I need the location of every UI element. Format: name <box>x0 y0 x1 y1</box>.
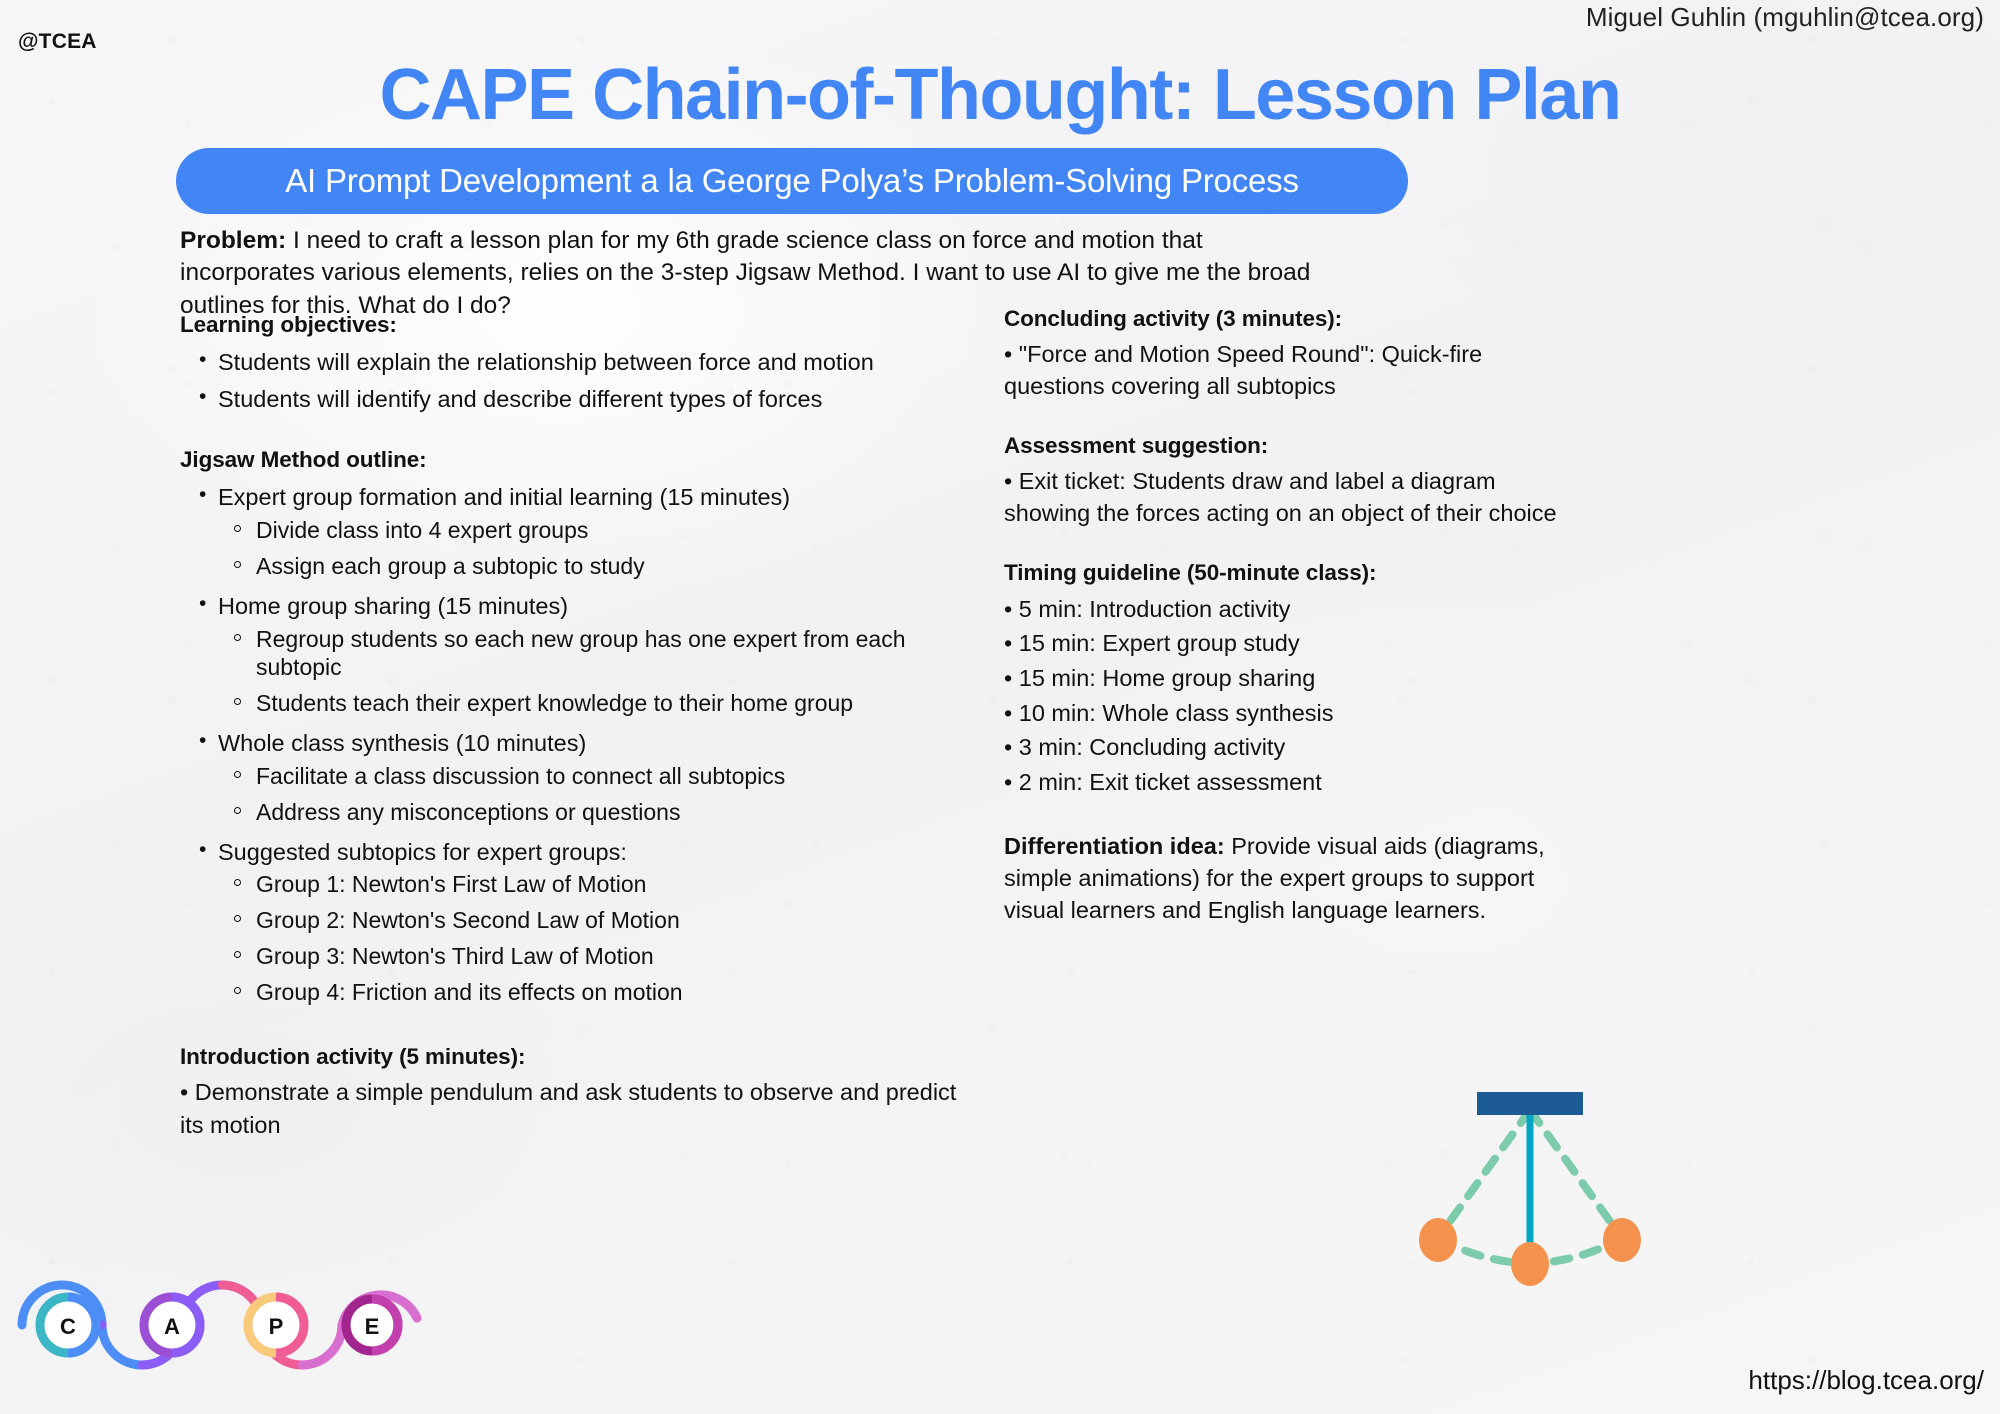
list-item-label: Students will explain the relationship b… <box>218 349 874 375</box>
jigsaw-list: Expert group formation and initial learn… <box>180 479 970 1014</box>
assessment-suggestion-heading: Assessment suggestion: <box>1004 433 1564 459</box>
list-item: Students will explain the relationship b… <box>218 344 970 381</box>
subtitle-banner: AI Prompt Development a la George Polya’… <box>176 148 1408 214</box>
sub-list: Group 1: Newton's First Law of Motion Gr… <box>218 866 970 1010</box>
pendulum-bob-left <box>1419 1218 1457 1262</box>
concluding-activity-body: • "Force and Motion Speed Round": Quick-… <box>1004 338 1564 403</box>
timing-item: • 10 min: Whole class synthesis <box>1004 696 1564 731</box>
list-item-label: Whole class synthesis (10 minutes) <box>218 730 586 756</box>
site-url[interactable]: https://blog.tcea.org/ <box>1748 1365 1984 1396</box>
list-item-label: Expert group formation and initial learn… <box>218 484 790 510</box>
spacer <box>180 417 970 447</box>
list-item-label: Home group sharing (15 minutes) <box>218 593 568 619</box>
timing-item: • 3 min: Concluding activity <box>1004 730 1564 765</box>
right-column: Concluding activity (3 minutes): • "Forc… <box>1004 306 1564 927</box>
timing-item: • 15 min: Home group sharing <box>1004 661 1564 696</box>
sub-list-item: Group 2: Newton's Second Law of Motion <box>256 902 970 938</box>
spacer <box>1004 403 1564 433</box>
concluding-activity-heading: Concluding activity (3 minutes): <box>1004 306 1564 332</box>
list-item: Whole class synthesis (10 minutes) Facil… <box>218 725 970 834</box>
sub-list-item: Students teach their expert knowledge to… <box>256 685 970 721</box>
pendulum-pivot-bar <box>1477 1092 1583 1115</box>
timing-item: • 15 min: Expert group study <box>1004 626 1564 661</box>
list-item-label: Suggested subtopics for expert groups: <box>218 839 627 865</box>
page-title: CAPE Chain-of-Thought: Lesson Plan <box>0 58 2000 134</box>
sub-list-item: Group 4: Friction and its effects on mot… <box>256 974 970 1010</box>
pendulum-arc-left <box>1438 1110 1530 1238</box>
introduction-activity-heading: Introduction activity (5 minutes): <box>180 1044 970 1070</box>
left-column: Learning objectives: Students will expla… <box>180 312 970 1141</box>
pendulum-illustration <box>1380 1088 1680 1308</box>
assessment-suggestion-body: • Exit ticket: Students draw and label a… <box>1004 465 1564 530</box>
tcea-handle: @TCEA <box>18 30 97 54</box>
differentiation-label: Differentiation idea: <box>1004 833 1225 859</box>
cape-logo: C A P E <box>12 1260 432 1390</box>
sub-list-item: Address any misconceptions or questions <box>256 794 970 830</box>
learning-objectives-list: Students will explain the relationship b… <box>180 344 970 417</box>
introduction-activity-body: • Demonstrate a simple pendulum and ask … <box>180 1076 970 1141</box>
jigsaw-heading: Jigsaw Method outline: <box>180 447 970 473</box>
cape-letter-a: A <box>152 1314 192 1340</box>
list-item-label: Students will identify and describe diff… <box>218 386 822 412</box>
pendulum-bob-right <box>1603 1218 1641 1262</box>
spacer <box>180 1014 970 1044</box>
timing-item: • 2 min: Exit ticket assessment <box>1004 765 1564 800</box>
sub-list: Facilitate a class discussion to connect… <box>218 758 970 830</box>
sub-list-item: Group 3: Newton's Third Law of Motion <box>256 938 970 974</box>
learning-objectives-heading: Learning objectives: <box>180 312 970 338</box>
list-item: Students will identify and describe diff… <box>218 381 970 418</box>
sub-list: Regroup students so each new group has o… <box>218 621 970 721</box>
timing-guideline-list: • 5 min: Introduction activity • 15 min:… <box>1004 592 1564 800</box>
timing-guideline-heading: Timing guideline (50-minute class): <box>1004 560 1564 586</box>
sub-list: Divide class into 4 expert groups Assign… <box>218 512 970 584</box>
pendulum-bob-center <box>1511 1242 1549 1286</box>
list-item: Home group sharing (15 minutes) Regroup … <box>218 588 970 725</box>
problem-label: Problem: <box>180 227 286 254</box>
differentiation-idea: Differentiation idea: Provide visual aid… <box>1004 830 1564 927</box>
subtitle-text: AI Prompt Development a la George Polya’… <box>285 162 1299 200</box>
spacer <box>1004 800 1564 830</box>
sub-list-item: Group 1: Newton's First Law of Motion <box>256 866 970 902</box>
sub-list-item: Regroup students so each new group has o… <box>256 621 970 685</box>
spacer <box>1004 530 1564 560</box>
timing-item: • 5 min: Introduction activity <box>1004 592 1564 627</box>
cape-letter-p: P <box>256 1314 296 1340</box>
list-item: Expert group formation and initial learn… <box>218 479 970 588</box>
author-credit: Miguel Guhlin (mguhlin@tcea.org) <box>1586 2 1984 33</box>
sub-list-item: Divide class into 4 expert groups <box>256 512 970 548</box>
sub-list-item: Facilitate a class discussion to connect… <box>256 758 970 794</box>
problem-text: I need to craft a lesson plan for my 6th… <box>180 227 1310 319</box>
pendulum-graphic <box>1380 1088 1680 1308</box>
cape-letter-e: E <box>352 1314 392 1340</box>
cape-letter-c: C <box>48 1314 88 1340</box>
sub-list-item: Assign each group a subtopic to study <box>256 548 970 584</box>
list-item: Suggested subtopics for expert groups: G… <box>218 834 970 1015</box>
pendulum-arc-right <box>1530 1110 1622 1238</box>
